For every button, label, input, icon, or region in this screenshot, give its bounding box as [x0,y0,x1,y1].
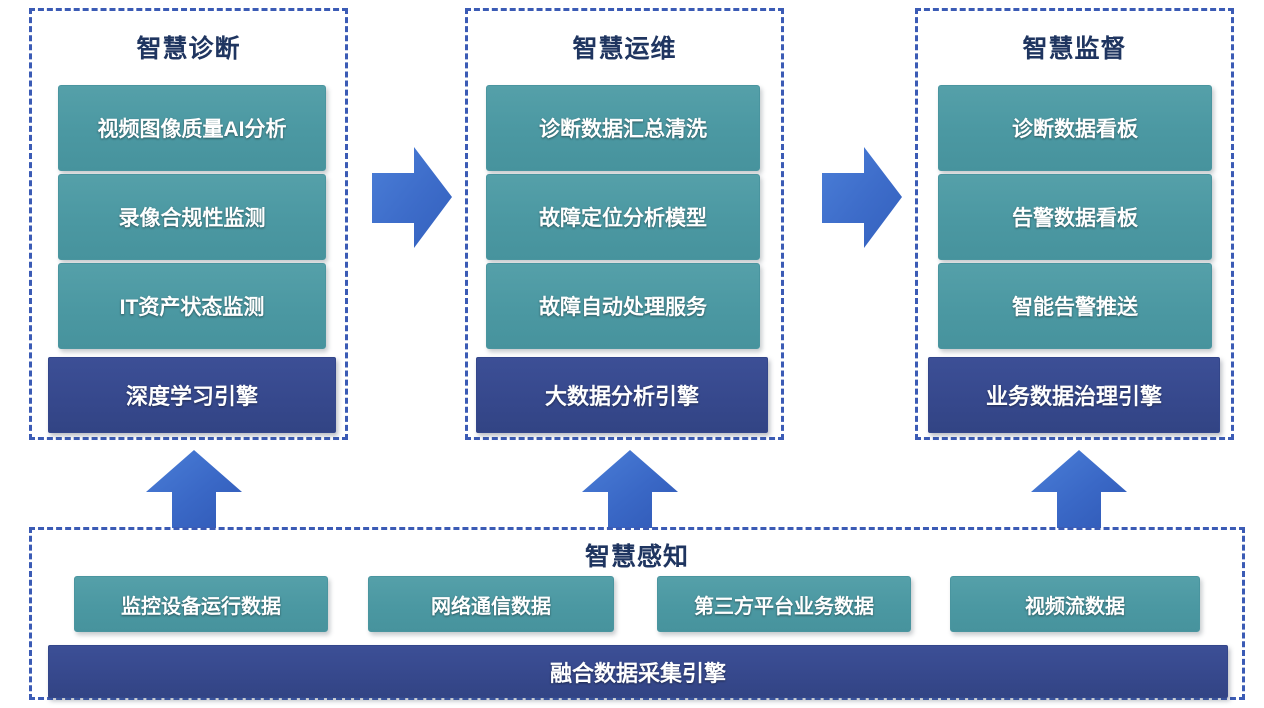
box-perception-engine[interactable]: 融合数据采集引擎 [48,645,1228,698]
box-supervision-item-1[interactable]: 诊断数据看板 [938,85,1212,171]
arrow-up-feed-to-diagnosis [146,450,242,528]
box-supervision-item-3[interactable]: 智能告警推送 [938,263,1212,349]
box-perception-item-2[interactable]: 网络通信数据 [368,576,614,632]
box-operations-item-3[interactable]: 故障自动处理服务 [486,263,760,349]
panel-title-smart-diagnosis: 智慧诊断 [29,29,348,65]
box-operations-item-1[interactable]: 诊断数据汇总清洗 [486,85,760,171]
arrow-up-feed-to-operations [582,450,678,528]
box-supervision-item-2[interactable]: 告警数据看板 [938,174,1212,260]
box-diagnosis-item-3[interactable]: IT资产状态监测 [58,263,326,349]
box-supervision-engine[interactable]: 业务数据治理引擎 [928,357,1220,433]
box-perception-item-3[interactable]: 第三方平台业务数据 [657,576,911,632]
arrow-up-feed-to-supervision [1031,450,1127,528]
architecture-diagram: 智慧诊断 视频图像质量AI分析 录像合规性监测 IT资产状态监测 深度学习引擎 … [0,0,1264,708]
box-diagnosis-item-2[interactable]: 录像合规性监测 [58,174,326,260]
panel-title-smart-operations: 智慧运维 [465,29,784,65]
arrow-right-operations-to-supervision [822,145,902,250]
panel-title-smart-perception: 智慧感知 [29,537,1245,573]
box-operations-item-2[interactable]: 故障定位分析模型 [486,174,760,260]
box-perception-item-1[interactable]: 监控设备运行数据 [74,576,328,632]
box-operations-engine[interactable]: 大数据分析引擎 [476,357,768,433]
box-diagnosis-engine[interactable]: 深度学习引擎 [48,357,336,433]
panel-title-smart-supervision: 智慧监督 [915,29,1234,65]
arrow-right-diagnosis-to-operations [372,145,452,250]
box-perception-item-4[interactable]: 视频流数据 [950,576,1200,632]
box-diagnosis-item-1[interactable]: 视频图像质量AI分析 [58,85,326,171]
